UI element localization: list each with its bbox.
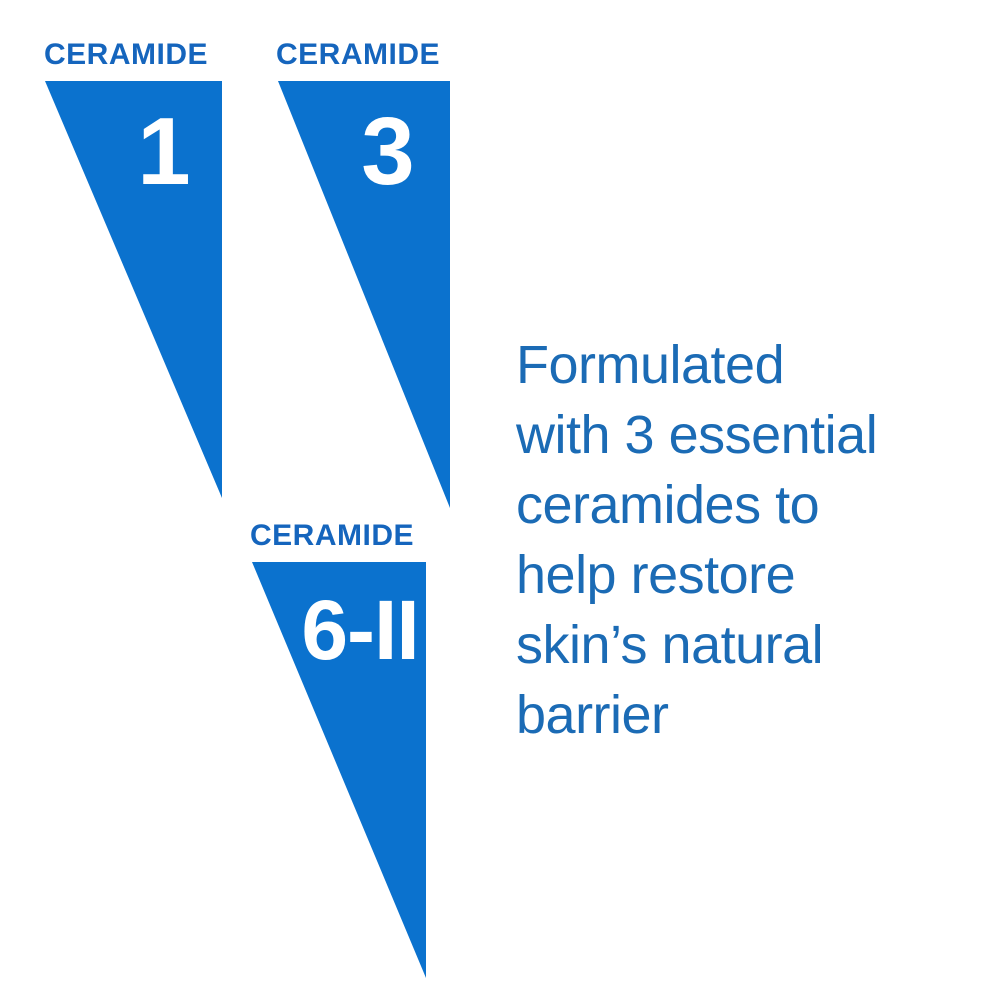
body-copy-line: with 3 essential	[516, 400, 976, 470]
body-copy: Formulated with 3 essential ceramides to…	[516, 330, 976, 750]
body-copy-line: ceramides to	[516, 470, 976, 540]
body-copy-line: help restore	[516, 540, 976, 610]
body-copy-line: Formulated	[516, 330, 976, 400]
ceramide-6-ii-triangle-icon	[0, 0, 500, 1000]
body-copy-line: skin’s natural	[516, 610, 976, 680]
ceramide-6-ii-badge: CERAMIDE 6-II	[0, 0, 500, 1000]
body-copy-line: barrier	[516, 680, 976, 750]
ceramide-6-ii-numeral: 6-II	[288, 588, 432, 672]
infographic-canvas: CERAMIDE 1 CERAMIDE 3 CERAMIDE 6-II Form…	[0, 0, 1000, 1000]
